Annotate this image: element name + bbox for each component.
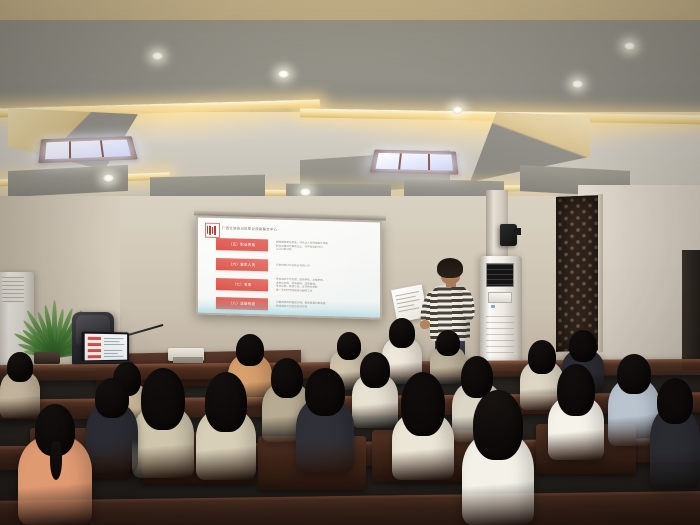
audience-member-head <box>95 378 129 418</box>
seminar-room-photo: 广西壮族自治区职业技能鉴定中心 （五）职业资格 按照国家职业标准，对从业人员的技… <box>0 0 700 525</box>
audience-member <box>548 364 604 460</box>
audience-member-head <box>305 368 345 416</box>
audience <box>0 0 700 525</box>
audience-member <box>462 390 534 525</box>
audience-member <box>296 368 354 472</box>
audience-member-head <box>236 334 264 366</box>
audience-member-head <box>360 352 390 388</box>
audience-member-head <box>617 354 651 394</box>
audience-member <box>18 404 92 525</box>
audience-member-head <box>141 368 185 430</box>
audience-member-head <box>657 378 693 424</box>
audience-member-head <box>401 372 445 436</box>
audience-member-head <box>389 318 415 348</box>
audience-member-head <box>473 390 523 460</box>
audience-member-head <box>569 330 597 362</box>
audience-member <box>196 372 256 480</box>
audience-member-head <box>436 330 460 356</box>
audience-member-head <box>557 364 595 416</box>
audience-member-head <box>205 372 247 432</box>
audience-member-head <box>7 352 33 382</box>
audience-member <box>392 372 454 480</box>
audience-member <box>132 368 194 478</box>
audience-member <box>86 378 138 473</box>
audience-member <box>650 378 700 488</box>
